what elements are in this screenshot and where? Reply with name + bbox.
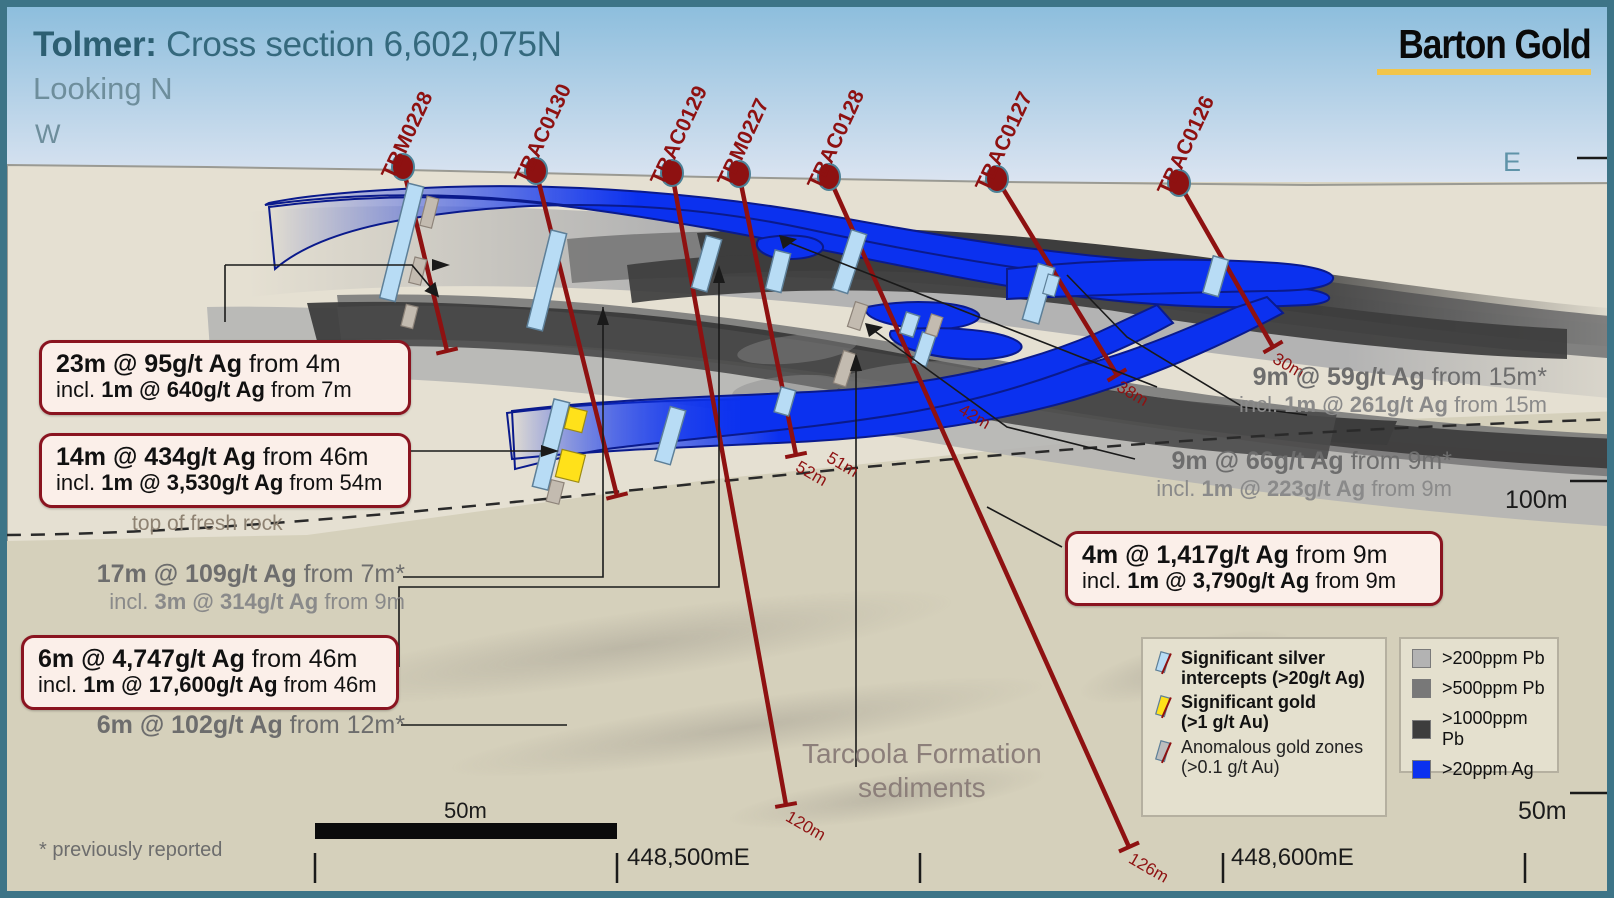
annot-from: from 12m* xyxy=(283,711,405,739)
annot-incl-grade: 3m @ 314g/t Ag xyxy=(155,589,319,614)
annot-line-1: 17m @ 109g/t Ag from 7m* xyxy=(75,560,405,589)
formation-label: Tarcoola Formation sediments xyxy=(802,737,1042,804)
legend-label-line-1: Significant silver xyxy=(1181,648,1365,668)
scale-bar xyxy=(315,823,617,839)
elevation-label-50m: 50m xyxy=(1518,797,1567,826)
elevation-label-100m: 100m xyxy=(1505,486,1568,515)
callout-incl-prefix: incl. xyxy=(1082,568,1127,593)
callout-from: from 46m xyxy=(256,443,369,471)
annot-incl-grade: 1m @ 261g/t Ag xyxy=(1284,392,1448,417)
annot-grade: 9m @ 66g/t Ag xyxy=(1172,447,1344,475)
annot-line-1: 9m @ 66g/t Ag from 9m* xyxy=(1122,447,1452,476)
annot-line-2: incl. 1m @ 261g/t Ag from 15m xyxy=(1167,392,1547,417)
annot-6m-102gt: 6m @ 102g/t Ag from 12m* xyxy=(75,711,405,740)
legend-swatch-label: >200ppm Pb xyxy=(1442,648,1545,669)
callout-incl-from: from 7m xyxy=(265,377,352,402)
legend-item-significant-gold: Significant gold(>1 g/t Au) xyxy=(1154,692,1374,732)
callout-incl-grade: 1m @ 3,790g/t Ag xyxy=(1127,568,1309,593)
annot-9m-59gt: 9m @ 59g/t Ag from 15m*incl. 1m @ 261g/t… xyxy=(1167,363,1547,417)
color-swatch-pb-1000 xyxy=(1412,720,1431,739)
callout-from: from 4m xyxy=(242,350,341,378)
logo-underline xyxy=(1377,69,1591,75)
callout-line-2: incl. 1m @ 3,530g/t Ag from 54m xyxy=(56,471,394,496)
legend-label-line-1: Significant gold xyxy=(1181,692,1316,712)
callout-grade: 23m @ 95g/t Ag xyxy=(56,350,242,378)
annot-from: from 15m* xyxy=(1425,363,1547,391)
legend-colors-panel: >200ppm Pb>500ppm Pb>1000ppm Pb>20ppm Ag xyxy=(1399,637,1559,773)
callout-incl-prefix: incl. xyxy=(56,377,101,402)
annot-incl-from: from 9m xyxy=(318,589,405,614)
legend-swatch-label: >500ppm Pb xyxy=(1442,678,1545,699)
callout-incl-grade: 1m @ 3,530g/t Ag xyxy=(101,470,283,495)
annot-line-2: incl. 1m @ 223g/t Ag from 9m xyxy=(1122,476,1452,501)
callout-line-2: incl. 1m @ 3,790g/t Ag from 9m xyxy=(1082,569,1426,594)
annot-from: from 9m* xyxy=(1344,447,1452,475)
legend-item-label: Significant silverintercepts (>20g/t Ag) xyxy=(1181,648,1365,688)
color-swatch-pb-500 xyxy=(1412,679,1431,698)
callout-grade: 14m @ 434g/t Ag xyxy=(56,443,256,471)
legend-label-line-1: Anomalous gold zones xyxy=(1181,737,1363,757)
scale-bar-label: 50m xyxy=(444,798,487,824)
footnote: * previously reported xyxy=(39,839,222,862)
logo-text: Barton Gold xyxy=(1399,21,1591,68)
formation-line-1: Tarcoola Formation xyxy=(802,737,1042,771)
callout-incl-from: from 9m xyxy=(1309,568,1396,593)
annot-incl-from: from 9m xyxy=(1365,476,1452,501)
legend-swatch-label: >20ppm Ag xyxy=(1442,759,1534,780)
silver-stick-icon xyxy=(1154,648,1176,681)
anomalous-stick-icon xyxy=(1154,737,1176,770)
legend-item-label: Anomalous gold zones(>0.1 g/t Au) xyxy=(1181,737,1363,777)
callout-incl-from: from 46m xyxy=(278,672,377,697)
easting-label-2: 448,600mE xyxy=(1231,844,1354,872)
callout-4m-1417gt: 4m @ 1,417g/t Ag from 9mincl. 1m @ 3,790… xyxy=(1065,531,1443,606)
page-subtitle: Looking N xyxy=(33,71,173,107)
easting-label-1: 448,500mE xyxy=(627,844,750,872)
callout-line-2: incl. 1m @ 640g/t Ag from 7m xyxy=(56,378,394,403)
compass-west-label: W xyxy=(35,119,60,150)
annot-17m-109gt: 17m @ 109g/t Ag from 7m*incl. 3m @ 314g/… xyxy=(75,560,405,614)
legend-swatch-label: >1000ppm Pb xyxy=(1442,708,1546,750)
annot-line-1: 6m @ 102g/t Ag from 12m* xyxy=(75,711,405,740)
callout-from: from 46m xyxy=(245,645,358,673)
annot-grade: 9m @ 59g/t Ag xyxy=(1253,363,1425,391)
callout-from: from 9m xyxy=(1289,541,1388,569)
annot-grade: 6m @ 102g/t Ag xyxy=(97,711,283,739)
callout-line-1: 6m @ 4,747g/t Ag from 46m xyxy=(38,645,382,673)
legend-symbols-panel: Significant silverintercepts (>20g/t Ag)… xyxy=(1141,637,1387,817)
annot-9m-66gt: 9m @ 66g/t Ag from 9m*incl. 1m @ 223g/t … xyxy=(1122,447,1452,501)
callout-grade: 4m @ 1,417g/t Ag xyxy=(1082,541,1289,569)
callout-incl-prefix: incl. xyxy=(38,672,83,697)
legend-swatch-row-pb-1000: >1000ppm Pb xyxy=(1412,708,1546,750)
callout-14m-434gt: 14m @ 434g/t Ag from 46mincl. 1m @ 3,530… xyxy=(39,433,411,508)
callout-incl-prefix: incl. xyxy=(56,470,101,495)
annot-line-2: incl. 3m @ 314g/t Ag from 9m xyxy=(75,589,405,614)
gold-stick-icon xyxy=(1154,692,1176,725)
top-of-fresh-rock-label: top of fresh rock xyxy=(132,512,283,536)
title-bold: Tolmer: xyxy=(33,25,157,64)
legend-label-line-2: intercepts (>20g/t Ag) xyxy=(1181,668,1365,688)
callout-line-1: 14m @ 434g/t Ag from 46m xyxy=(56,443,394,471)
color-swatch-pb-200 xyxy=(1412,649,1431,668)
page-title: Tolmer: Cross section 6,602,075N xyxy=(33,25,562,65)
callout-23m-95gt: 23m @ 95g/t Ag from 4mincl. 1m @ 640g/t … xyxy=(39,340,411,415)
annot-incl-from: from 15m xyxy=(1448,392,1547,417)
annot-incl-grade: 1m @ 223g/t Ag xyxy=(1202,476,1366,501)
callout-incl-grade: 1m @ 640g/t Ag xyxy=(101,377,265,402)
compass-east-label: E xyxy=(1503,147,1521,178)
legend-swatch-row-pb-500: >500ppm Pb xyxy=(1412,678,1546,699)
annot-line-1: 9m @ 59g/t Ag from 15m* xyxy=(1167,363,1547,392)
barton-gold-logo: Barton Gold xyxy=(1367,21,1591,75)
legend-item-significant-silver: Significant silverintercepts (>20g/t Ag) xyxy=(1154,648,1374,688)
callout-line-1: 23m @ 95g/t Ag from 4m xyxy=(56,350,394,378)
title-rest: Cross section 6,602,075N xyxy=(157,25,562,64)
cross-section-figure: Tolmer: Cross section 6,602,075N Looking… xyxy=(0,0,1614,898)
legend-item-label: Significant gold(>1 g/t Au) xyxy=(1181,692,1316,732)
callout-incl-from: from 54m xyxy=(283,470,382,495)
annot-incl-prefix: incl. xyxy=(1156,476,1201,501)
annot-incl-prefix: incl. xyxy=(1239,392,1284,417)
legend-item-anomalous-gold: Anomalous gold zones(>0.1 g/t Au) xyxy=(1154,737,1374,777)
callout-incl-grade: 1m @ 17,600g/t Ag xyxy=(83,672,277,697)
legend-label-line-2: (>0.1 g/t Au) xyxy=(1181,757,1363,777)
callout-line-1: 4m @ 1,417g/t Ag from 9m xyxy=(1082,541,1426,569)
annot-from: from 7m* xyxy=(297,560,405,588)
legend-label-line-2: (>1 g/t Au) xyxy=(1181,712,1316,732)
color-swatch-ag-20 xyxy=(1412,760,1431,779)
formation-line-2: sediments xyxy=(802,771,1042,805)
legend-swatch-row-pb-200: >200ppm Pb xyxy=(1412,648,1546,669)
annot-grade: 17m @ 109g/t Ag xyxy=(97,560,297,588)
legend-swatch-row-ag-20: >20ppm Ag xyxy=(1412,759,1546,780)
callout-grade: 6m @ 4,747g/t Ag xyxy=(38,645,245,673)
callout-line-2: incl. 1m @ 17,600g/t Ag from 46m xyxy=(38,673,382,698)
annot-incl-prefix: incl. xyxy=(109,589,154,614)
callout-6m-4747gt: 6m @ 4,747g/t Ag from 46mincl. 1m @ 17,6… xyxy=(21,635,399,710)
